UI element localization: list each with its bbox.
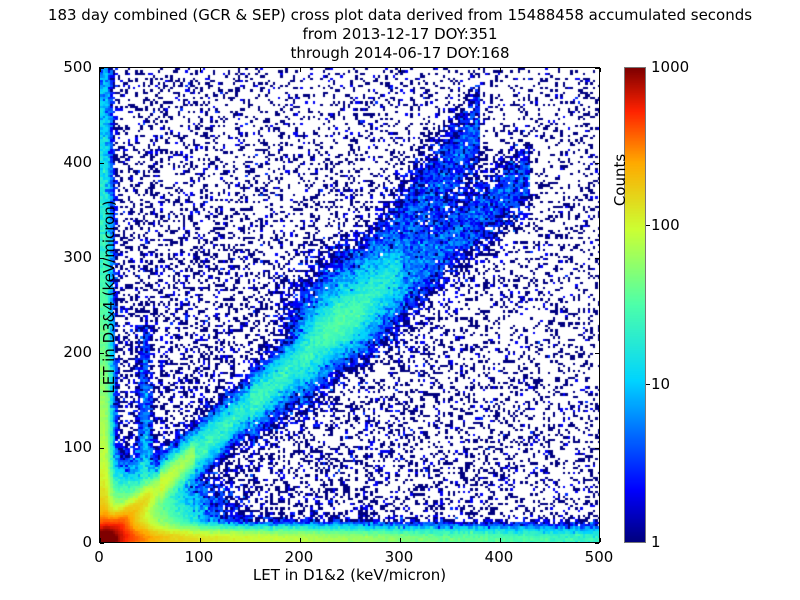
x-tick-label-0: 0 — [94, 548, 104, 566]
x-tick-100 — [200, 538, 201, 542]
y-tick-right-200 — [595, 353, 599, 354]
colorbar-tick-100 — [646, 225, 650, 226]
x-tick-top-100 — [200, 68, 201, 72]
y-tick-right-400 — [595, 163, 599, 164]
x-tick-label-200: 200 — [285, 548, 314, 566]
x-tick-top-400 — [500, 68, 501, 72]
chart-title: 183 day combined (GCR & SEP) cross plot … — [0, 6, 800, 63]
y-tick-right-500 — [595, 68, 599, 69]
y-tick-right-100 — [595, 448, 599, 449]
y-tick-label-200: 200 — [4, 343, 92, 361]
y-tick-label-300: 300 — [4, 248, 92, 266]
y-tick-label-400: 400 — [4, 153, 92, 171]
y-tick-label-0: 0 — [4, 533, 92, 551]
colorbar-title: Counts — [611, 55, 629, 305]
x-tick-top-500 — [600, 68, 601, 72]
y-tick-0 — [100, 543, 104, 544]
x-tick-label-100: 100 — [185, 548, 214, 566]
x-tick-top-200 — [300, 68, 301, 72]
colorbar-label-100: 100 — [651, 216, 680, 234]
x-tick-200 — [300, 538, 301, 542]
x-tick-300 — [400, 538, 401, 542]
y-tick-label-500: 500 — [4, 58, 92, 76]
colorbar-tick-10 — [646, 384, 650, 385]
y-tick-right-0 — [595, 543, 599, 544]
x-axis-label: LET in D1&2 (keV/micron) — [99, 566, 600, 584]
x-tick-label-300: 300 — [385, 548, 414, 566]
colorbar-label-1: 1 — [651, 533, 661, 551]
title-line-2: from 2013-12-17 DOY:351 — [0, 25, 800, 44]
y-tick-right-300 — [595, 258, 599, 259]
x-tick-0 — [100, 538, 101, 542]
y-axis-label: LET in D3&4 (keV/micron) — [100, 59, 118, 535]
colorbar-label-1000: 1000 — [651, 58, 689, 76]
plot-area[interactable] — [99, 67, 600, 543]
x-tick-label-400: 400 — [485, 548, 514, 566]
colorbar-label-10: 10 — [651, 375, 670, 393]
x-tick-label-500: 500 — [585, 548, 614, 566]
x-tick-top-300 — [400, 68, 401, 72]
density-scatter-canvas — [100, 68, 599, 542]
x-tick-500 — [600, 538, 601, 542]
title-line-1: 183 day combined (GCR & SEP) cross plot … — [0, 6, 800, 25]
y-tick-label-100: 100 — [4, 438, 92, 456]
x-tick-400 — [500, 538, 501, 542]
